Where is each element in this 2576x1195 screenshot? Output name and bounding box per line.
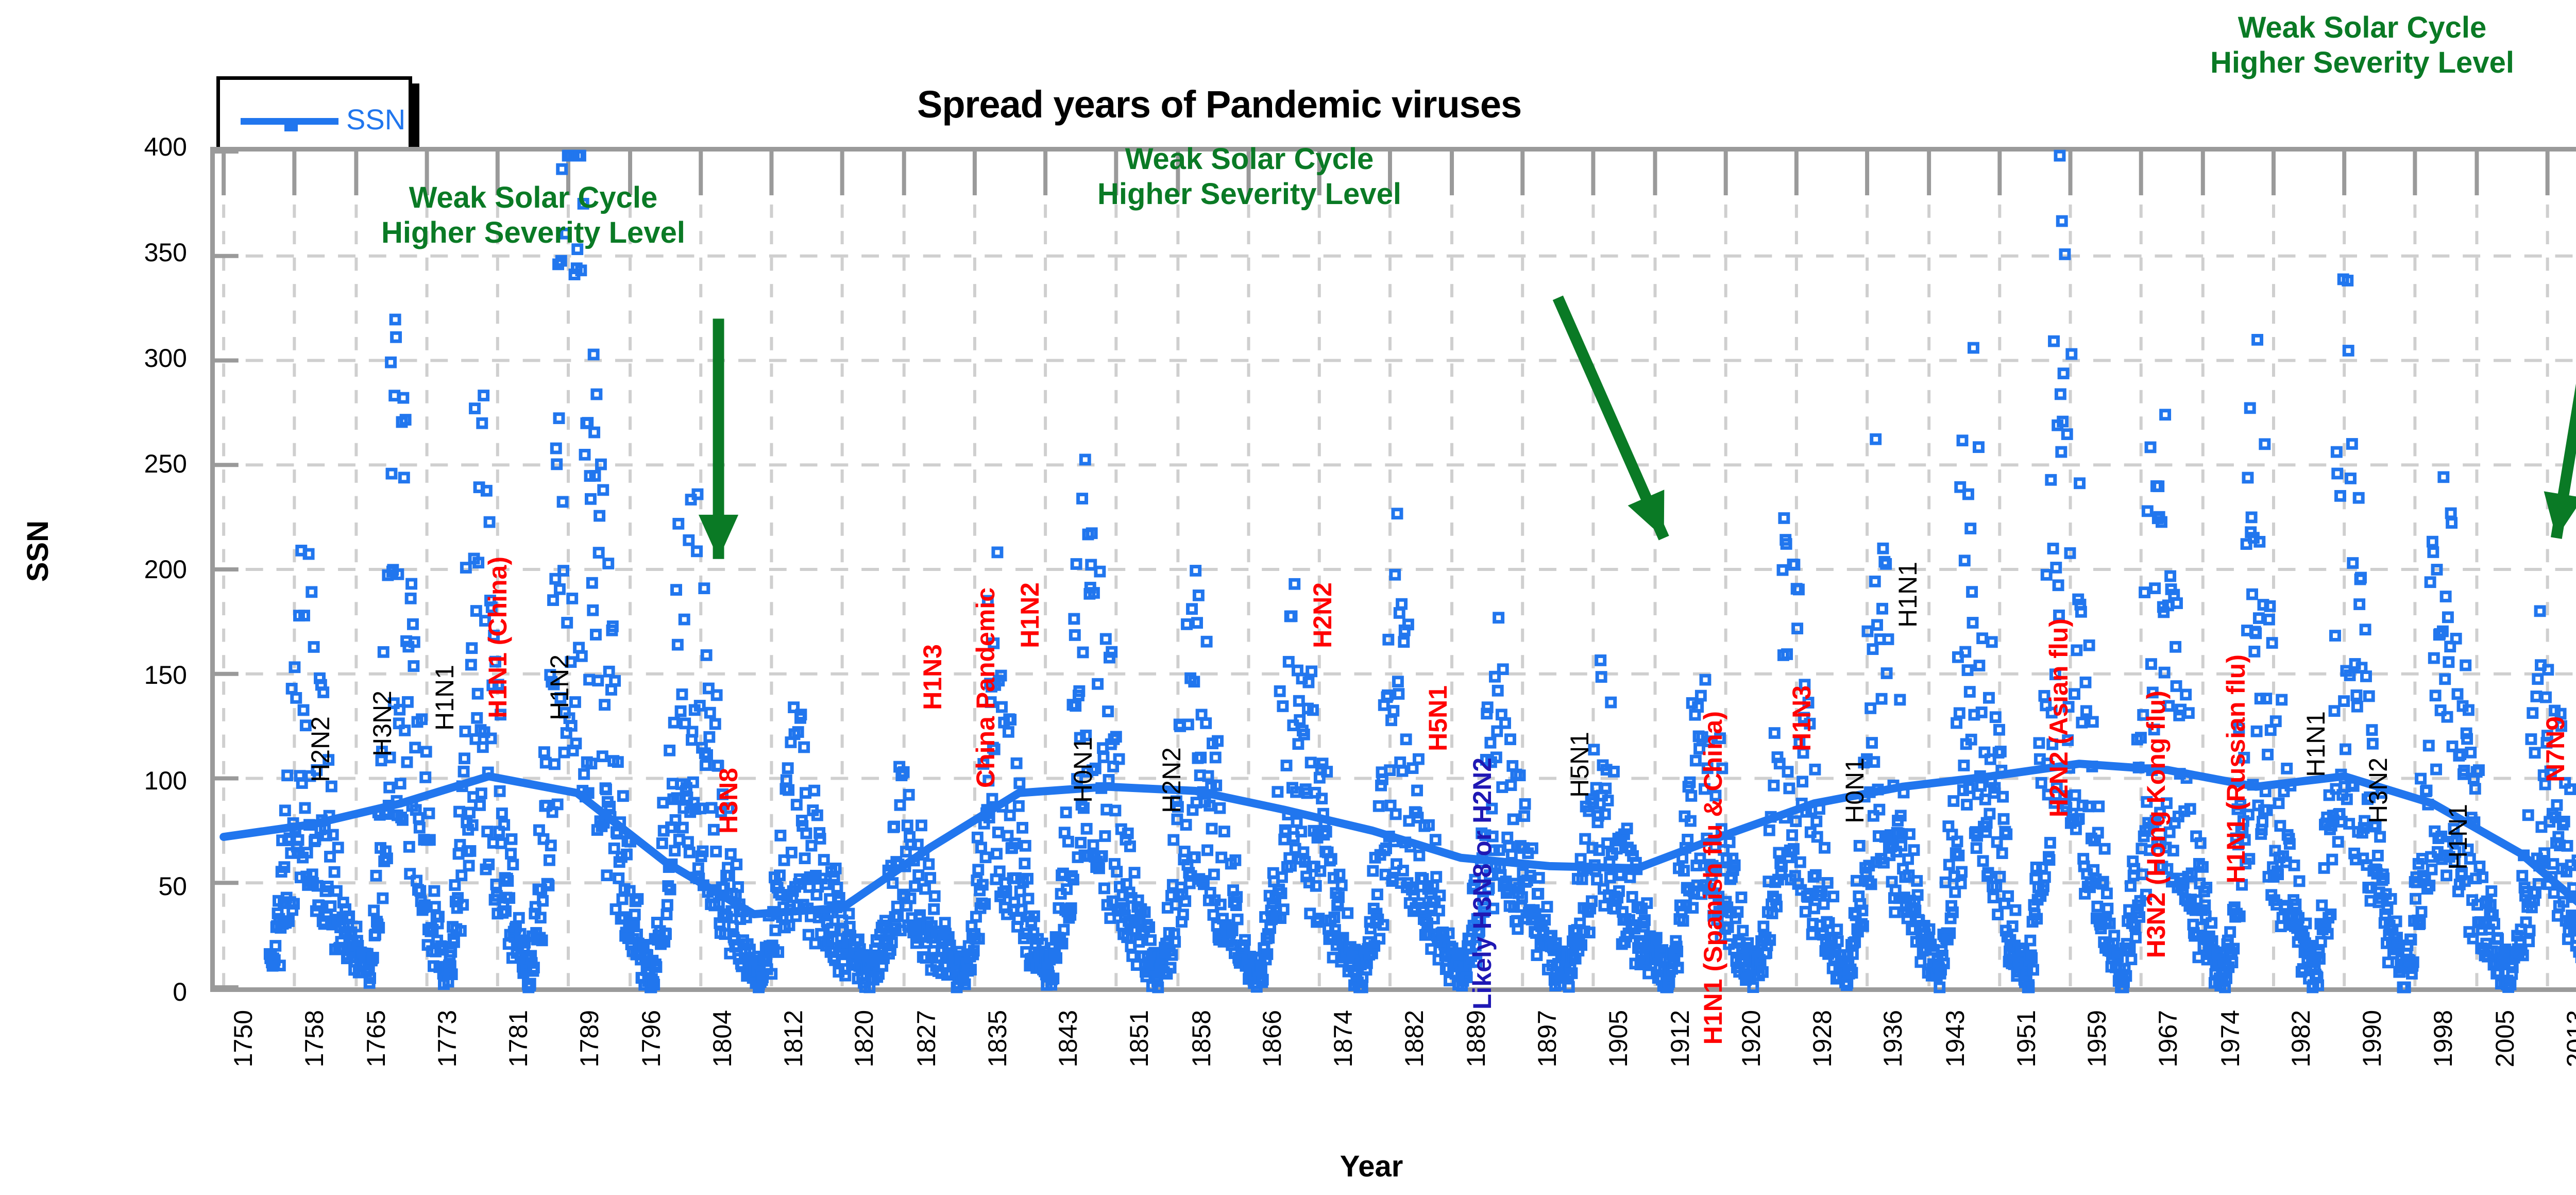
ssn-data-point [387,469,396,478]
ssn-data-point [1870,758,1878,766]
ssn-data-point [1171,938,1179,946]
ssn-data-point [1188,605,1196,613]
ssn-data-point [1565,983,1573,991]
ssn-data-point [807,841,816,850]
ssn-data-point [379,648,387,656]
ssn-data-point [1427,945,1435,953]
ssn-data-point [455,807,464,816]
ssn-data-point [1062,809,1070,817]
ssn-data-point [1217,853,1226,862]
ssn-data-point [2059,369,2067,378]
ssn-data-point [1104,708,1112,716]
ssn-data-point [802,789,810,797]
ssn-data-point [2276,822,2284,830]
ssn-data-point [1378,775,1386,783]
ssn-data-point [2518,872,2527,880]
ssn-data-point [801,854,809,863]
ssn-data-point [1994,911,2002,919]
ssn-data-point [507,850,515,858]
ssn-data-point [461,754,469,763]
ssn-data-point [2532,693,2540,701]
x-axis-title: Year [0,1149,2576,1184]
ssn-data-point [1291,580,1299,588]
ssn-data-point [2439,473,2448,481]
x-tick-label: 1967 [2153,1010,2183,1067]
ssn-data-point [2041,873,2049,881]
ssn-data-point [2361,626,2369,634]
ssn-data-point [435,913,443,921]
ssn-data-point [2469,934,2477,942]
ssn-data-point [580,770,588,778]
ssn-data-point [671,847,679,855]
ssn-data-point [585,676,594,684]
ssn-data-point [1376,935,1384,943]
ssn-data-point [500,821,509,829]
ssn-data-point [1494,686,1502,695]
ssn-data-point [1414,755,1422,763]
ssn-data-point [467,661,475,669]
ssn-data-point [370,906,378,915]
green-note-2-line2: Higher Severity Level [1097,177,1401,212]
ssn-data-point [1204,846,1212,854]
ssn-data-point [776,832,785,840]
ssn-data-point [1147,936,1155,944]
ssn-data-point [1969,619,1977,627]
ssn-data-point [2531,749,2539,757]
ssn-data-point [1400,638,1408,646]
green-note-3-line1: Weak Solar Cycle [2210,10,2514,45]
x-tick-label: 1796 [636,1010,666,1067]
ssn-data-point [581,450,589,459]
ssn-data-point [1216,804,1224,812]
y-tick-label: 350 [0,238,187,267]
ssn-data-point [1006,811,1014,819]
ssn-data-point [706,709,714,717]
ssn-data-point [1166,964,1175,972]
ssn-data-point [2081,678,2090,686]
ssn-data-point [553,800,562,809]
virus-label: H1N1 [1893,562,1923,628]
x-tick-label: 1998 [2428,1010,2458,1067]
ssn-data-point [422,748,430,756]
ssn-data-point [1996,748,2005,756]
ssn-data-point [492,880,500,888]
ssn-data-point [283,771,292,780]
ssn-data-point [2035,739,2043,747]
ssn-data-point [1879,544,1887,552]
ssn-data-point [1128,952,1137,960]
ssn-data-point [1021,860,1029,868]
virus-label: H1N3 [918,644,947,710]
ssn-data-point [703,751,711,759]
ssn-data-point [1220,828,1228,836]
ssn-data-point [396,780,404,788]
ssn-data-point [2104,904,2112,913]
ssn-data-point [1202,719,1210,728]
x-tick-label: 1974 [2215,1010,2245,1067]
ssn-data-point [2332,448,2341,456]
ssn-data-point [299,706,308,714]
x-tick-label: 1928 [1807,1010,1837,1067]
ssn-data-point [2252,629,2260,637]
ssn-data-point [1917,958,1925,966]
ssn-data-point [549,596,557,604]
ssn-data-point [2011,906,2020,914]
x-tick-label: 1781 [503,1010,533,1067]
ssn-data-point [672,586,681,594]
x-tick-label: 1982 [2286,1010,2316,1067]
legend-marker-swatch [284,123,298,131]
ssn-data-point [391,315,399,324]
ssn-data-point [2151,584,2159,593]
ssn-data-point [2143,507,2151,515]
ssn-data-point [2100,845,2109,853]
ssn-data-point [1969,344,1977,352]
ssn-data-point [2042,571,2050,579]
ssn-data-point [1963,666,1972,675]
ssn-data-point [1274,788,1282,796]
ssn-data-point [281,806,289,815]
ssn-data-point [1483,703,1492,712]
ssn-data-point [2550,889,2558,897]
ssn-data-point [1896,696,1904,704]
ssn-data-point [2441,675,2449,683]
ssn-data-point [1266,924,1275,932]
ssn-data-point [2529,709,2537,717]
ssn-data-point [1179,911,1187,919]
ssn-data-point [2447,509,2455,517]
ssn-data-point [1981,795,1989,803]
ssn-data-point [1796,858,1804,866]
ssn-data-point [685,848,693,856]
page-title: Spread years of Pandemic viruses [917,82,1793,126]
x-tick-label: 1912 [1665,1010,1695,1067]
ssn-data-point [2355,600,2364,609]
ssn-data-point [392,333,400,341]
ssn-data-point [1279,905,1287,914]
ssn-data-point [2141,588,2149,597]
virus-label: H2N2 [1308,582,1337,648]
ssn-data-point [1304,678,1313,686]
ssn-data-point [926,874,935,882]
ssn-data-point [1829,893,1838,901]
virus-label: H1N2 [545,654,574,720]
virus-label: H1N1 [2301,711,2331,777]
legend-label-ssn: SSN [346,103,405,136]
ssn-data-point [399,394,408,402]
ssn-data-point [2155,482,2163,491]
ssn-data-point [1172,901,1180,909]
chart-legend: SSN [216,76,412,159]
ssn-data-point [473,714,481,722]
ssn-data-point [330,868,338,876]
ssn-data-point [1936,983,1944,991]
ssn-data-point [1369,867,1377,875]
ssn-data-point [2050,337,2058,345]
ssn-data-point [311,835,319,844]
ssn-data-point [693,490,702,498]
ssn-data-point [2056,152,2064,160]
ssn-data-point [2347,474,2355,482]
ssn-data-point [782,776,790,784]
virus-label: H1N1 [2443,804,2473,870]
ssn-data-point [2090,866,2098,874]
ssn-data-point [784,764,792,772]
ssn-data-point [1193,619,1201,627]
ssn-data-point [1299,848,1308,856]
ssn-data-point [1126,842,1134,850]
ssn-data-point [1308,667,1316,676]
x-tick-label: 1990 [2357,1010,2387,1067]
ssn-data-point [2353,702,2361,711]
ssn-data-point [1103,805,1111,814]
ssn-data-point [2196,839,2205,847]
ssn-data-point [893,902,901,911]
ssn-data-point [1071,631,1079,639]
ssn-data-point [2265,615,2273,624]
ssn-data-point [974,866,982,874]
green-note-2-line1: Weak Solar Cycle [1097,142,1401,177]
ssn-data-point [1964,490,1972,498]
ssn-data-point [2524,811,2532,819]
ssn-data-point [2333,469,2342,478]
ssn-data-point [2365,692,2373,700]
ssn-data-point [2247,513,2256,521]
ssn-data-point [973,833,981,841]
x-tick-label: 1943 [1940,1010,1970,1067]
ssn-data-point [1373,890,1381,899]
ssn-data-point [1734,908,1742,916]
ssn-data-point [591,631,600,639]
ssn-data-point [619,792,627,800]
ssn-data-point [1948,908,1957,916]
ssn-data-point [1014,802,1023,810]
ssn-data-point [451,881,459,889]
ssn-data-point [1402,735,1410,744]
virus-label: H2N2 [306,716,335,782]
ssn-data-point [2161,411,2170,419]
ssn-data-point [304,550,313,558]
ssn-data-point [1398,600,1406,608]
ssn-data-point [1963,801,1971,809]
ssn-data-point [925,860,933,868]
ssn-data-point [545,856,553,864]
x-tick-label: 1866 [1257,1010,1287,1067]
ssn-data-point [558,165,566,173]
ssn-data-point [589,350,598,359]
ssn-data-point [1884,635,1892,644]
ssn-data-point [1790,561,1799,569]
ssn-data-point [1079,648,1087,657]
ssn-data-point [461,728,469,736]
ssn-data-point [1060,925,1068,934]
ssn-data-point [431,903,439,911]
ssn-data-point [327,902,335,911]
virus-label: H2N2 [1157,747,1187,813]
ssn-data-point [476,801,484,810]
ssn-data-point [2266,602,2274,610]
ssn-data-point [2275,799,2283,807]
ssn-data-point [1603,839,1612,848]
ssn-data-point [578,652,586,660]
ssn-data-point [377,756,385,765]
ssn-data-point [930,905,938,913]
y-tick-label: 250 [0,449,187,479]
ssn-data-point [1961,648,1970,656]
ssn-data-point [2452,634,2460,643]
ssn-data-point [2283,764,2291,772]
ssn-data-point [465,862,473,870]
ssn-data-point [1181,897,1190,905]
ssn-data-point [2476,863,2484,871]
ssn-data-point [1520,812,1529,820]
ssn-data-point [2445,658,2453,666]
x-tick-label: 1920 [1736,1010,1766,1067]
ssn-data-point [1957,879,1965,887]
ssn-data-point [700,584,708,593]
green-note-1-line1: Weak Solar Cycle [381,180,685,215]
ssn-data-point [1972,844,1980,852]
ssn-data-point [496,787,504,795]
ssn-data-point [413,877,421,885]
ssn-data-point [2194,953,2202,962]
ssn-data-point [1012,759,1021,767]
ssn-data-point [1021,841,1029,850]
y-tick-label: 150 [0,660,187,690]
ssn-data-point [1986,810,1994,818]
ssn-data-point [1521,800,1529,808]
ssn-data-point [1115,755,1123,763]
ssn-data-point [1811,765,1819,773]
ssn-data-point [977,844,986,852]
ssn-data-point [1486,738,1495,747]
ssn-data-point [688,728,697,736]
ssn-data-point [410,662,418,670]
ssn-data-point [2253,335,2262,344]
ssn-data-point [726,850,735,858]
ssn-data-point [326,852,334,861]
ssn-data-point [1111,806,1120,815]
ssn-data-point [2527,735,2535,744]
ssn-data-point [308,588,316,596]
ssn-data-point [1130,869,1139,877]
ssn-data-point [1501,719,1510,727]
ssn-data-point [1645,969,1653,978]
ssn-data-point [903,821,911,830]
ssn-data-point [2422,786,2431,795]
virus-label: H1N1 [430,665,460,731]
green-note-3-line2: Higher Severity Level [2210,45,2514,80]
ssn-data-point [1953,719,1961,727]
ssn-data-point [689,778,697,786]
ssn-data-point [2430,654,2438,662]
ssn-data-point [401,727,409,735]
ssn-data-point [2093,902,2102,911]
x-tick-label: 2005 [2490,1010,2520,1067]
x-tick-label: 1827 [911,1010,941,1067]
ssn-data-point [1833,925,1841,934]
ssn-data-point [2532,889,2540,897]
ssn-data-point [2566,785,2574,794]
ssn-data-point [2331,632,2340,640]
ssn-data-point [2046,839,2054,847]
ssn-data-point [1495,614,1503,622]
ssn-data-point [2184,709,2193,717]
ssn-data-point [1096,567,1104,576]
ssn-data-point [705,733,714,741]
ssn-data-point [1955,709,1963,717]
ssn-data-point [1882,560,1890,568]
ssn-data-point [993,548,1002,557]
ssn-data-point [477,789,485,798]
ssn-data-point [1799,778,1807,786]
ssn-data-point [684,838,692,846]
ssn-data-point [702,651,710,659]
virus-label: H0N1 [1840,758,1870,823]
ssn-data-point [2147,660,2155,668]
ssn-data-point [1415,851,1423,860]
ssn-data-point [1913,877,1921,885]
ssn-data-point [676,707,685,715]
ssn-data-point [820,856,828,864]
ssn-data-point [1233,915,1242,923]
ssn-data-point [896,801,904,809]
ssn-data-point [1337,881,1346,889]
ssn-data-point [2526,927,2534,935]
ssn-data-point [2126,882,2134,890]
y-tick-label: 50 [0,871,187,901]
ssn-data-point [2077,608,2085,616]
ssn-data-point [1344,909,1352,917]
ssn-data-point [1191,853,1199,862]
ssn-data-point [2146,443,2155,451]
ssn-data-point [400,474,408,482]
ssn-data-point [2295,877,2303,885]
ssn-data-point [905,790,913,799]
ssn-data-point [988,795,996,803]
ssn-data-point [460,767,468,776]
ssn-data-point [611,677,619,685]
ssn-data-point [1855,841,1863,850]
ssn-data-point [1784,768,1792,776]
ssn-data-point [1389,707,1398,715]
ssn-data-point [833,884,841,892]
ssn-data-point [1687,792,1696,800]
ssn-data-point [1597,657,1605,665]
ssn-data-point [2357,574,2365,582]
ssn-data-point [1821,844,1829,852]
ssn-data-point [1600,902,1608,910]
ssn-data-point [841,971,850,980]
ssn-data-point [2261,440,2269,448]
ssn-data-point [1004,728,1012,736]
ssn-data-point [1398,767,1406,775]
ssn-data-point [2362,672,2370,681]
ssn-data-point [1628,893,1636,901]
y-tick-label: 400 [0,132,187,162]
ssn-data-point [539,897,547,905]
ssn-data-point [670,718,678,727]
ssn-data-point [2082,707,2090,715]
virus-label: H1N1 (China) [483,557,513,718]
ssn-data-point [1960,762,1968,770]
ssn-data-point [1431,836,1439,844]
x-tick-label: 1758 [299,1010,329,1067]
ssn-data-point [2172,682,2180,691]
green-note-1-line2: Higher Severity Level [381,215,685,250]
ssn-data-point [592,390,601,398]
virus-label: Likely H3N8 or H2N2 [1467,758,1497,1009]
